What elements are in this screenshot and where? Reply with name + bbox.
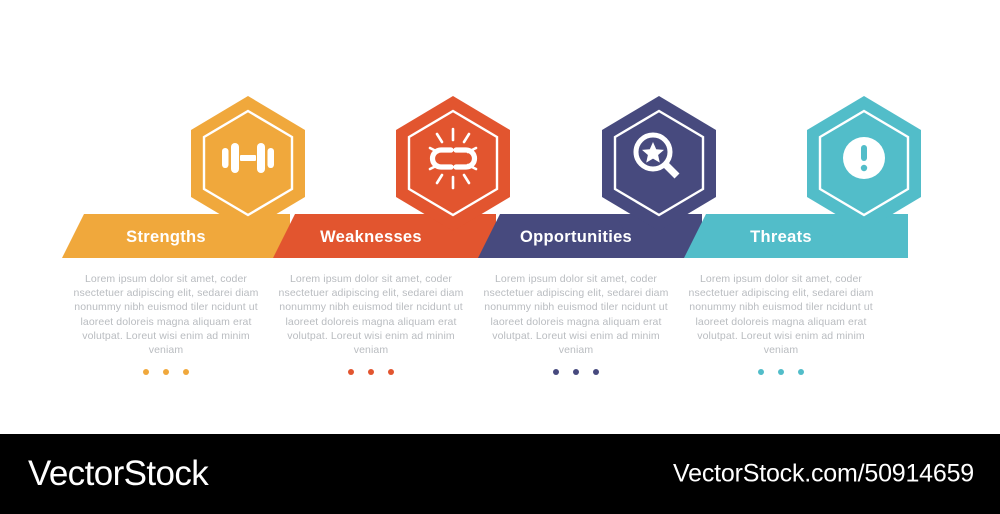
description-opportunities: Lorem ipsum dolor sit amet, coder nsecte…: [476, 272, 676, 357]
screenshot-root: Strengths: [0, 0, 1000, 514]
swot-block-opportunities[interactable]: Opportunities: [478, 96, 716, 258]
dot: [778, 369, 784, 375]
dot: [553, 369, 559, 375]
dot: [348, 369, 354, 375]
hexagon-opportunities: [602, 96, 716, 231]
vectorstock-logo: VectorStock: [28, 454, 208, 494]
dot: [183, 369, 189, 375]
dot: [163, 369, 169, 375]
swot-block-strengths[interactable]: Strengths: [62, 96, 305, 258]
dots-weaknesses: [271, 362, 471, 380]
dot: [388, 369, 394, 375]
dots-threats: [681, 362, 881, 380]
banner-label-strengths: Strengths: [126, 228, 206, 246]
hexagon-strengths: [191, 96, 305, 231]
dot: [758, 369, 764, 375]
watermark-footer: VectorStock VectorStock.com/50914659: [0, 434, 1000, 514]
description-columns: Lorem ipsum dolor sit amet, coder nsecte…: [0, 272, 1000, 392]
hexagon-weaknesses: [396, 96, 510, 231]
dot: [798, 369, 804, 375]
banner-label-opportunities: Opportunities: [520, 228, 632, 246]
description-strengths: Lorem ipsum dolor sit amet, coder nsecte…: [66, 272, 266, 357]
exclamation-circle-icon: [843, 137, 885, 179]
dot: [573, 369, 579, 375]
swot-infographic: Strengths: [0, 0, 1000, 434]
dot: [593, 369, 599, 375]
dot: [368, 369, 374, 375]
banner-label-weaknesses: Weaknesses: [320, 228, 422, 246]
banner-label-threats: Threats: [750, 228, 812, 246]
swot-block-weaknesses[interactable]: Weaknesses: [273, 96, 510, 258]
swot-block-threats[interactable]: Threats: [684, 96, 921, 258]
dot: [143, 369, 149, 375]
description-threats: Lorem ipsum dolor sit amet, coder nsecte…: [681, 272, 881, 357]
vectorstock-url: VectorStock.com/50914659: [673, 460, 974, 489]
description-weaknesses: Lorem ipsum dolor sit amet, coder nsecte…: [271, 272, 471, 357]
dots-strengths: [66, 362, 266, 380]
dots-opportunities: [476, 362, 676, 380]
